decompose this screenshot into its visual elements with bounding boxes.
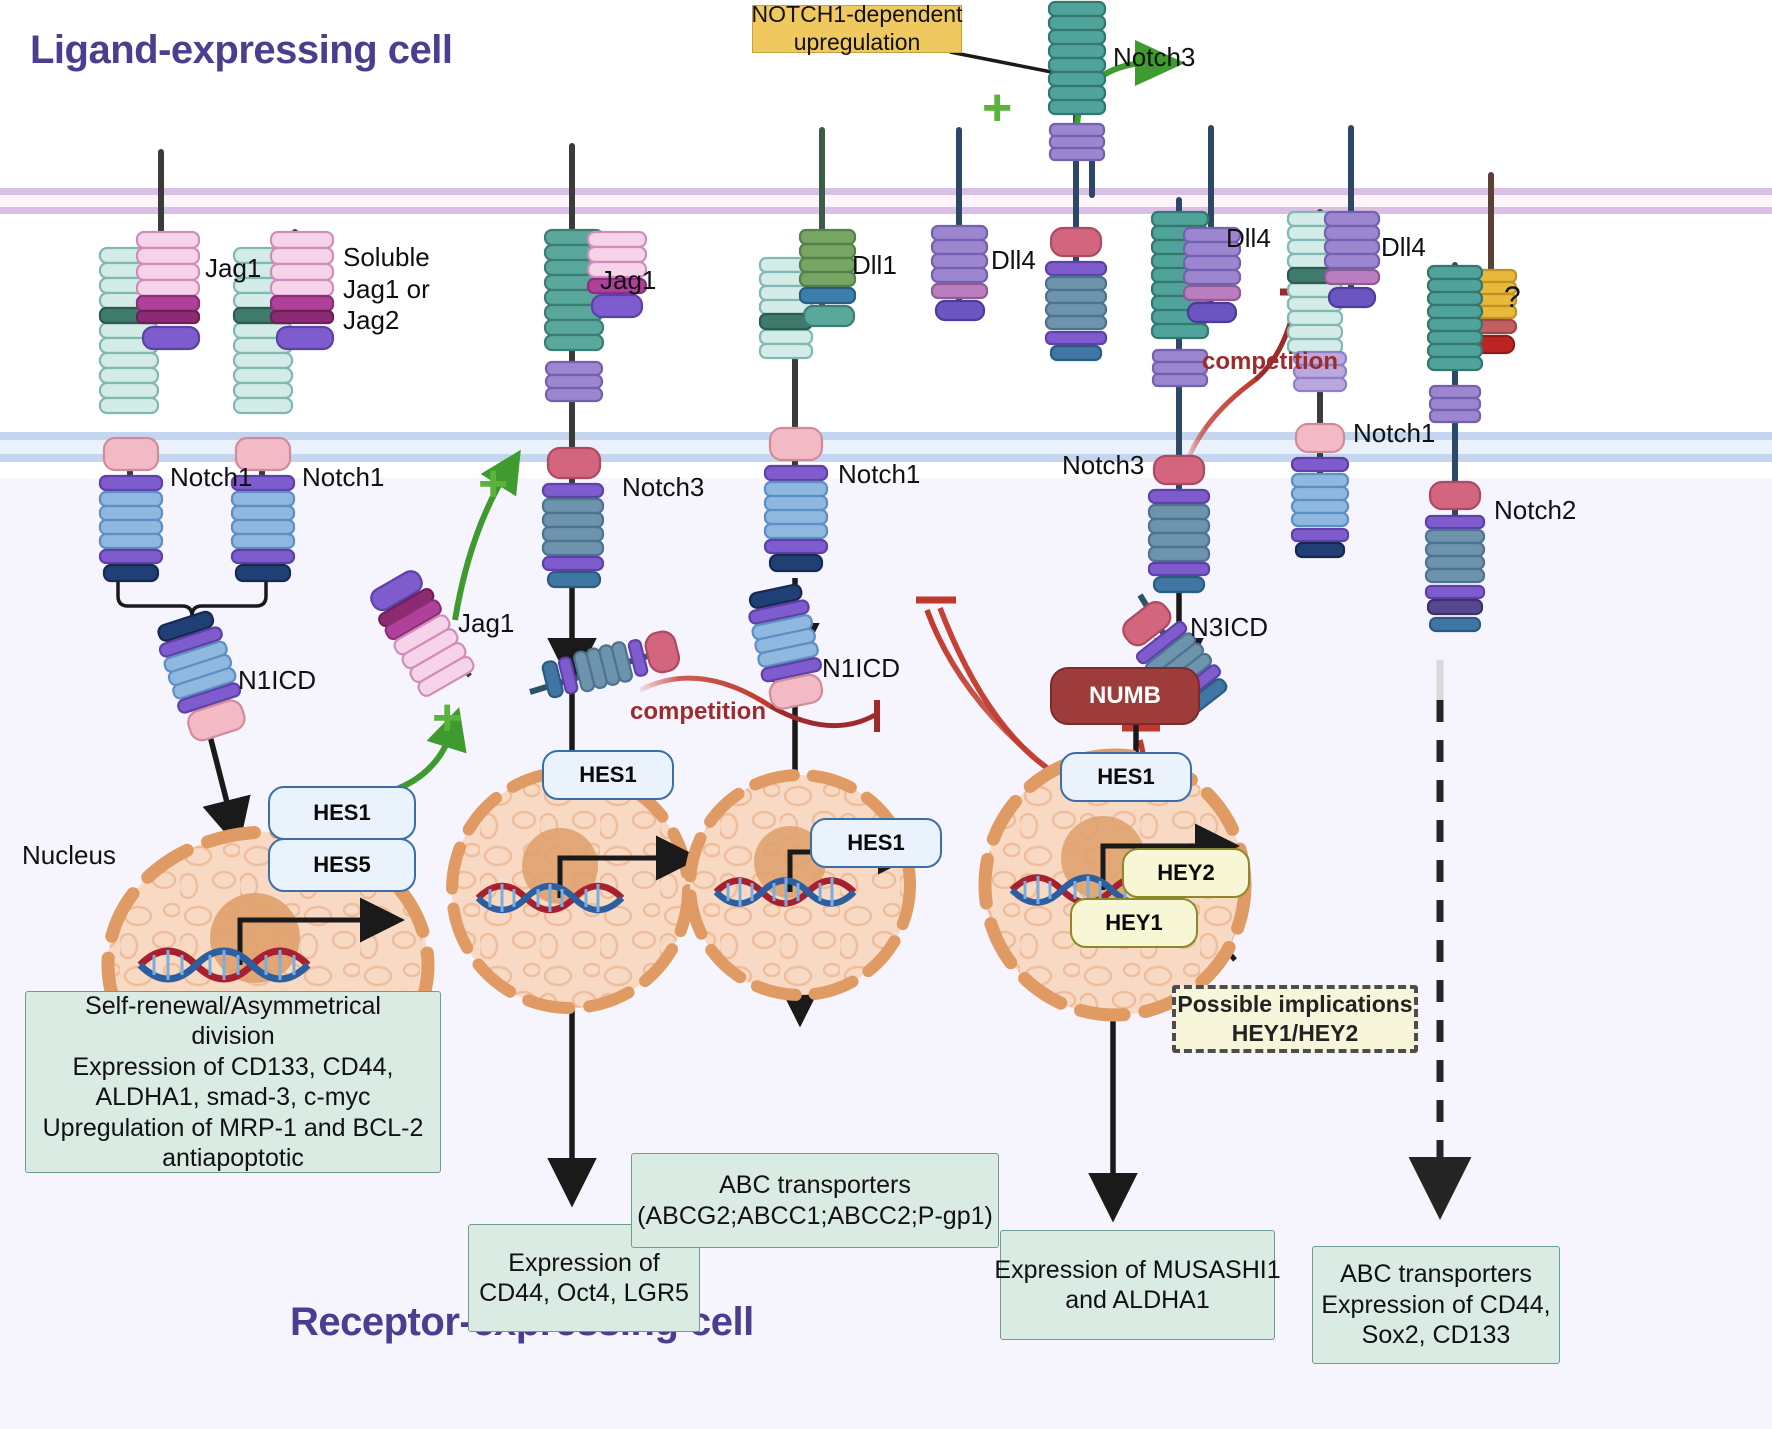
label-soluble-jag: Soluble Jag1 or Jag2 — [343, 242, 430, 337]
gene-badge-hes1-2[interactable]: HES1 — [542, 750, 674, 800]
label-notch1-d: Notch1 — [1353, 418, 1435, 449]
receptor-cell-membrane — [0, 432, 1772, 462]
jag1-stack-1 — [137, 232, 199, 349]
label-notch1-b: Notch1 — [302, 462, 384, 493]
label-notch1-a: Notch1 — [170, 462, 252, 493]
gene-badge-hey1[interactable]: HEY1 — [1070, 898, 1198, 948]
outcome-box-self-renewal: Self-renewal/Asymmetrical division Expre… — [25, 991, 441, 1173]
gene-badge-hes1-3[interactable]: HES1 — [810, 818, 942, 868]
label-competition-right: competition — [1202, 348, 1338, 376]
label-notch3-mid: Notch3 — [622, 472, 704, 503]
pathway-diagram: Ligand-expressing cell Receptor-expressi… — [0, 0, 1772, 1429]
label-dll4-c: Dll4 — [1381, 232, 1426, 263]
ligand-stack-pale-5 — [1288, 212, 1342, 353]
label-question-mark: ? — [1504, 281, 1521, 315]
label-n1icd-a: N1ICD — [238, 665, 316, 696]
callout-possible-implications: Possible implications HEY1/HEY2 — [1172, 985, 1418, 1053]
label-notch3-top: Notch3 — [1113, 42, 1195, 73]
label-n3icd: N3ICD — [1190, 612, 1268, 643]
outcome-box-abc-transporters: ABC transporters (ABCG2;ABCC1;ABCC2;P-gp… — [631, 1153, 999, 1248]
label-notch3-right: Notch3 — [1062, 450, 1144, 481]
label-n1icd-b: N1ICD — [822, 653, 900, 684]
label-jag1-b: Jag1 — [600, 265, 656, 296]
soluble-jag-stack — [271, 232, 333, 349]
ligand-cell-membrane — [0, 188, 1772, 214]
ligand-stack-pale-1 — [100, 248, 158, 413]
gene-badge-hes5[interactable]: HES5 — [268, 838, 416, 892]
callout-notch1-dependent-upregulation: NOTCH1-dependent upregulation — [752, 5, 962, 53]
label-jag1-a: Jag1 — [205, 253, 261, 284]
dll4-stack-c — [1325, 212, 1379, 307]
notch3-top-stack — [1046, 2, 1106, 360]
gene-badge-hes1-4[interactable]: HES1 — [1060, 752, 1192, 802]
outcome-box-abc-cd44-sox2: ABC transporters Expression of CD44, Sox… — [1312, 1246, 1560, 1364]
label-nucleus: Nucleus — [22, 840, 116, 871]
label-jag1-free: Jag1 — [458, 608, 514, 639]
ligand-stack-pale-4 — [760, 258, 812, 358]
dll4-free-stack — [932, 226, 987, 320]
label-notch2: Notch2 — [1494, 495, 1576, 526]
label-notch1-c: Notch1 — [838, 459, 920, 490]
label-dll4-a: Dll4 — [991, 245, 1036, 276]
numb-badge[interactable]: NUMB — [1050, 667, 1200, 725]
plus-sign-notch3-upregulation: + — [982, 82, 1012, 134]
dll1-stack — [800, 230, 855, 326]
outcome-box-musashi1: Expression of MUSASHI1 and ALDHA1 — [1000, 1230, 1275, 1340]
gene-badge-hes1-1[interactable]: HES1 — [268, 786, 416, 840]
page-title-ligand-cell: Ligand-expressing cell — [30, 28, 452, 73]
notch3-ecto-teal — [545, 230, 603, 401]
label-competition-left: competition — [630, 698, 766, 726]
plus-sign-nucleus-jag1: + — [432, 692, 462, 744]
label-dll1: Dll1 — [852, 250, 897, 281]
gene-badge-hey2[interactable]: HEY2 — [1122, 848, 1250, 898]
plus-sign-jag1-notch3: + — [478, 458, 508, 510]
label-dll4-b: Dll4 — [1226, 223, 1271, 254]
